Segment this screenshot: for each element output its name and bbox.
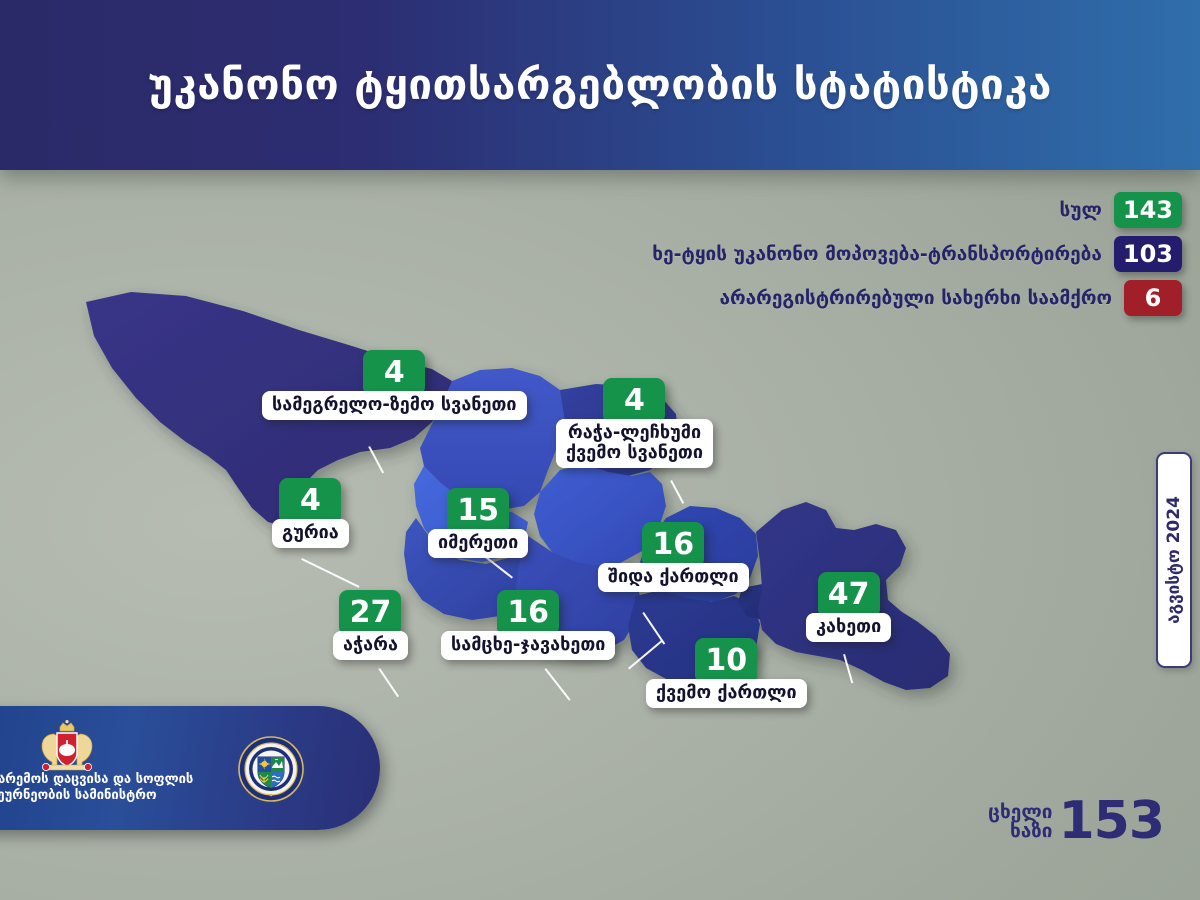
- marker-label-adjara: აჭარა: [333, 631, 408, 660]
- marker-adjara[interactable]: 27 აჭარა: [333, 590, 408, 660]
- marker-samegrelo-zemo-svaneti[interactable]: 4 სამეგრელო-ზემო სვანეთი: [262, 350, 527, 420]
- marker-imereti[interactable]: 15 იმერეთი: [428, 488, 528, 558]
- marker-value-kakheti: 47: [818, 572, 880, 618]
- hotline-label-line1: ცხელი: [988, 803, 1052, 822]
- marker-value-kvemo-kartli: 10: [695, 638, 757, 684]
- legend-label-logging: ხე-ტყის უკანონო მოპოვება-ტრანსპორტირება: [652, 243, 1102, 265]
- marker-value-samegrelo: 4: [363, 350, 425, 396]
- ministry-name-line1: გარემოს დაცვისა და სოფლის: [0, 772, 220, 788]
- marker-value-shida-kartli: 16: [642, 522, 704, 568]
- marker-guria[interactable]: 4 გურია: [272, 478, 349, 548]
- marker-label-guria: გურია: [272, 519, 349, 548]
- marker-label-kakheti: კახეთი: [806, 613, 891, 642]
- legend-row-logging: ხე-ტყის უკანონო მოპოვება-ტრანსპორტირება …: [652, 236, 1182, 272]
- hotline: ცხელი ხაზი 153: [988, 799, 1164, 844]
- marker-label-samegrelo: სამეგრელო-ზემო სვანეთი: [262, 391, 527, 420]
- marker-racha-lechkhumi[interactable]: 4 რაჭა-ლეჩხუმიქვემო სვანეთი: [556, 378, 713, 468]
- marker-value-adjara: 27: [339, 590, 401, 636]
- legend-row-sawmill: არარეგისტრირებული სახერხი საამქრო 6: [720, 280, 1183, 316]
- legend-label-sawmill: არარეგისტრირებული სახერხი საამქრო: [720, 287, 1113, 309]
- infographic-canvas: უკანონო ტყითსარგებლობის სტატისტიკა: [0, 0, 1200, 900]
- legend-chip-sawmill: 6: [1124, 280, 1182, 316]
- marker-label-kvemo-kartli: ქვემო ქართლი: [646, 679, 807, 708]
- marker-label-imereti: იმერეთი: [428, 529, 528, 558]
- marker-value-racha: 4: [603, 378, 665, 424]
- hotline-label-line2: ხაზი: [988, 822, 1052, 841]
- date-tab: აგვისტო 2024: [1156, 452, 1192, 668]
- hotline-number: 153: [1058, 799, 1164, 844]
- legend-row-total: სულ 143: [1059, 192, 1182, 228]
- legend-chip-total: 143: [1114, 192, 1182, 228]
- environment-agency-seal-icon: [238, 736, 304, 802]
- marker-kakheti[interactable]: 47 კახეთი: [806, 572, 891, 642]
- hotline-label: ცხელი ხაზი: [988, 803, 1052, 841]
- legend: სულ 143 ხე-ტყის უკანონო მოპოვება-ტრანსპო…: [652, 192, 1182, 316]
- marker-kvemo-kartli[interactable]: 10 ქვემო ქართლი: [646, 638, 807, 708]
- ministry-name: გარემოს დაცვისა და სოფლის მეურნეობის სამ…: [0, 772, 220, 805]
- marker-value-imereti: 15: [447, 488, 509, 534]
- ministry-name-line2: მეურნეობის სამინისტრო: [0, 788, 220, 804]
- page-title: უკანონო ტყითსარგებლობის სტატისტიკა: [148, 64, 1052, 106]
- marker-label-shida-kartli: შიდა ქართლი: [598, 563, 749, 592]
- legend-label-total: სულ: [1059, 199, 1101, 221]
- marker-samtskhe-javakheti[interactable]: 16 სამცხე-ჯავახეთი: [441, 590, 615, 660]
- marker-value-guria: 4: [279, 478, 341, 524]
- footer-branding-pill: გარემოს დაცვისა და სოფლის მეურნეობის სამ…: [0, 706, 380, 830]
- legend-chip-logging: 103: [1114, 236, 1182, 272]
- georgia-coat-of-arms-icon: [30, 720, 104, 776]
- marker-label-samtskhe: სამცხე-ჯავახეთი: [441, 631, 615, 660]
- marker-label-racha: რაჭა-ლეჩხუმიქვემო სვანეთი: [556, 419, 713, 468]
- marker-value-samtskhe: 16: [497, 590, 559, 636]
- header-banner: უკანონო ტყითსარგებლობის სტატისტიკა: [0, 0, 1200, 170]
- marker-shida-kartli[interactable]: 16 შიდა ქართლი: [598, 522, 749, 592]
- date-tab-label: აგვისტო 2024: [1164, 496, 1184, 624]
- ministry-name-block: გარემოს დაცვისა და სოფლის მეურნეობის სამ…: [0, 772, 220, 805]
